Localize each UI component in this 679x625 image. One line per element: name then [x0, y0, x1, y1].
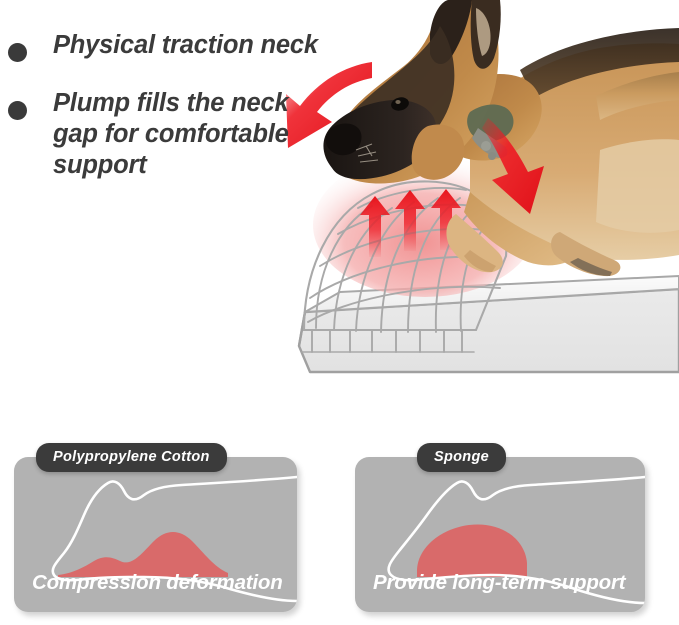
card-caption: Compression deformation: [14, 571, 297, 595]
comparison-card-sponge: Sponge Provide long-term support: [355, 457, 645, 612]
material-badge: Sponge: [417, 443, 506, 472]
bullet-dot-icon: [8, 43, 27, 62]
support-up-arrows: [360, 189, 461, 257]
list-item: Plump fills the neck gap for comfortable…: [0, 88, 330, 181]
card-caption: Provide long-term support: [355, 571, 645, 595]
material-comparison: Polypropylene Cotton Compression deforma…: [0, 440, 679, 625]
material-badge: Polypropylene Cotton: [36, 443, 227, 472]
feature-list: Physical traction neck Plump fills the n…: [0, 30, 330, 207]
feature-label: Plump fills the neck gap for comfortable…: [53, 88, 321, 181]
feature-label: Physical traction neck: [53, 30, 318, 61]
list-item: Physical traction neck: [0, 30, 330, 62]
infographic-stage: Physical traction neck Plump fills the n…: [0, 0, 679, 625]
comparison-card-polypropylene: Polypropylene Cotton Compression deforma…: [14, 457, 297, 612]
bullet-dot-icon: [8, 101, 27, 120]
